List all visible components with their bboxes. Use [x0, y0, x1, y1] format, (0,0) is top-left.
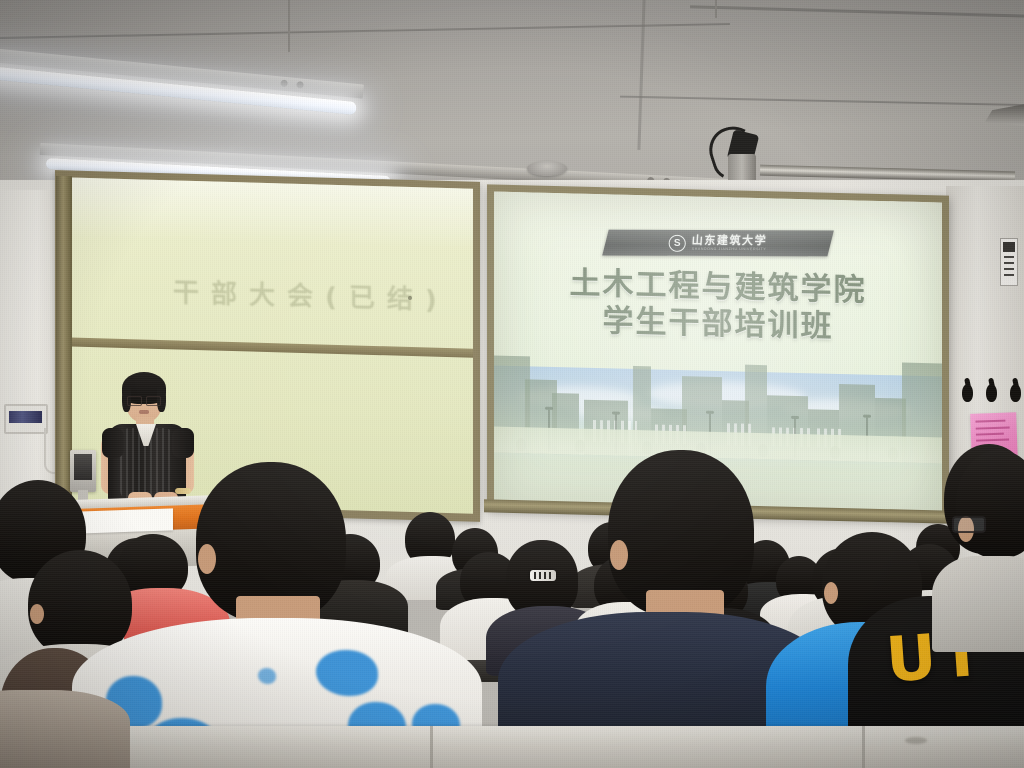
university-name-en: SHANDONG JIANZHU UNIVERSITY [692, 247, 767, 251]
podium-papers [77, 508, 173, 533]
desk-seam [862, 726, 865, 768]
wall-hook-icon [962, 384, 973, 402]
whiteboard-divider [63, 337, 473, 357]
door-sign [1000, 238, 1018, 286]
ceiling-panel-edge [637, 0, 645, 150]
wall-hooks [962, 384, 1024, 406]
presenter-glasses [127, 396, 161, 404]
university-logo-icon: S [669, 234, 686, 251]
whiteboard-ghost-writing: 干部大会(已结) [173, 272, 438, 313]
university-logo-banner: S 山东建筑大学 SHANDONG JIANZHU UNIVERSITY [602, 229, 834, 256]
presenter-wristwatch [175, 488, 191, 494]
presenter-sleeve [172, 428, 194, 458]
ceiling-seam [620, 96, 1024, 107]
presenter-mouth [139, 410, 149, 414]
whiteboard-glare [63, 177, 473, 248]
wall-control-panel[interactable] [4, 404, 48, 434]
eyeglasses [952, 516, 986, 533]
desk-smudge [905, 737, 927, 744]
smoke-detector-icon [527, 161, 567, 176]
light-hanger-rod [288, 0, 290, 52]
ceiling-seam [690, 5, 1024, 17]
light-hanger-rod [715, 0, 717, 18]
desk-row-front [0, 726, 1024, 768]
ceiling-seam [0, 23, 730, 39]
presenter [98, 372, 198, 512]
lecture-hall-photo: 干部大会(已结) [0, 0, 1024, 768]
whiteboard-mark [408, 296, 412, 300]
wall-hook-icon [986, 384, 997, 402]
control-panel-display [9, 411, 42, 423]
slide-title: 土木工程与建筑学院 学生干部培训班 [494, 263, 942, 350]
hair-clip [530, 570, 556, 581]
presenter-sleeve [102, 428, 124, 458]
wall-hook-icon [1010, 384, 1021, 402]
desktop-monitor [70, 450, 96, 492]
university-name-cn: 山东建筑大学 [691, 234, 767, 246]
desk-seam [430, 726, 433, 768]
